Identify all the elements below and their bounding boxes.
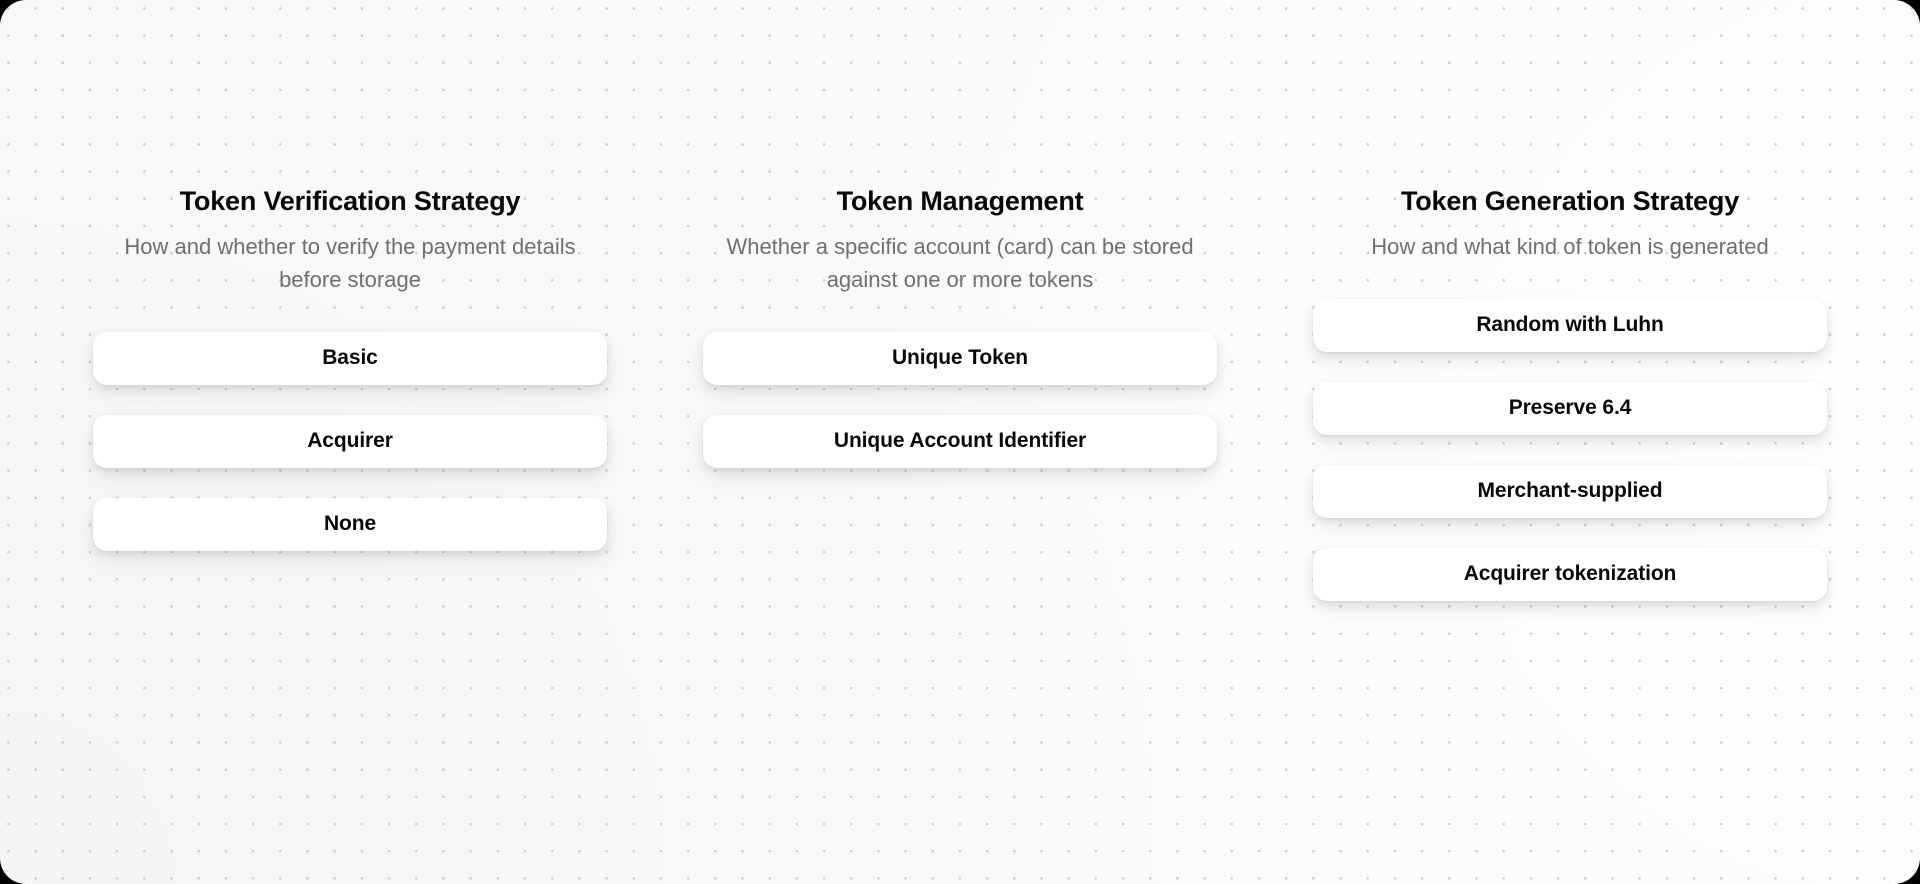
column-description: Whether a specific account (card) can be… [703, 230, 1217, 296]
option-pill-merchant-supplied[interactable]: Merchant-supplied [1313, 465, 1827, 518]
column-title: Token Management [703, 185, 1217, 219]
option-pill-none[interactable]: None [93, 498, 607, 551]
strategy-columns-container: Token Verification Strategy How and whet… [0, 0, 1920, 884]
column-title: Token Verification Strategy [93, 185, 607, 219]
option-pill-acquirer[interactable]: Acquirer [93, 415, 607, 468]
option-list: Basic Acquirer None [93, 332, 607, 551]
column-token-generation-strategy: Token Generation Strategy How and what k… [1313, 185, 1827, 601]
option-pill-acquirer-tokenization[interactable]: Acquirer tokenization [1313, 548, 1827, 601]
column-token-management: Token Management Whether a specific acco… [703, 185, 1217, 468]
option-pill-unique-token[interactable]: Unique Token [703, 332, 1217, 385]
column-title: Token Generation Strategy [1313, 185, 1827, 219]
tokenization-options-board: Token Verification Strategy How and whet… [0, 0, 1920, 884]
option-pill-unique-account-identifier[interactable]: Unique Account Identifier [703, 415, 1217, 468]
option-pill-preserve-6-4[interactable]: Preserve 6.4 [1313, 382, 1827, 435]
option-pill-random-with-luhn[interactable]: Random with Luhn [1313, 299, 1827, 352]
option-list: Unique Token Unique Account Identifier [703, 332, 1217, 468]
column-description: How and what kind of token is generated [1313, 230, 1827, 263]
column-description: How and whether to verify the payment de… [93, 230, 607, 296]
option-pill-basic[interactable]: Basic [93, 332, 607, 385]
column-token-verification-strategy: Token Verification Strategy How and whet… [93, 185, 607, 551]
option-list: Random with Luhn Preserve 6.4 Merchant-s… [1313, 299, 1827, 601]
